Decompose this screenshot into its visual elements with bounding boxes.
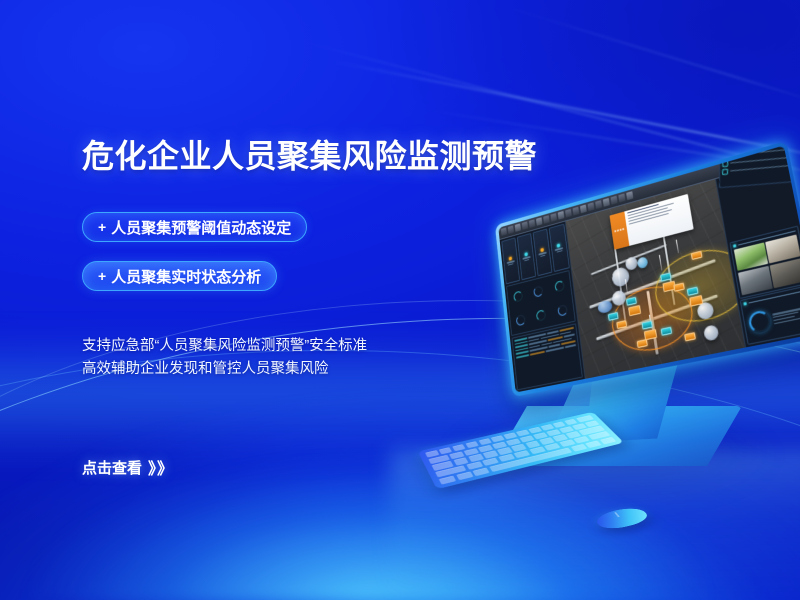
personnel-marker[interactable]: [642, 321, 653, 330]
toolbar-icon: [528, 220, 534, 229]
pipeline: [647, 291, 659, 355]
toolbar-icon: [580, 205, 587, 214]
dashboard-right-panel: [716, 159, 800, 347]
monitor: [495, 141, 800, 397]
risk-zone-amber[interactable]: [651, 241, 746, 330]
gauge-cell[interactable]: [528, 278, 550, 305]
feature-pill-label: 人员聚集预警阈值动态设定: [111, 217, 291, 238]
description: 支持应急部“人员聚集风险监测预警”安全标准 高效辅助企业发现和管控人员聚集风险: [82, 335, 502, 381]
feature-pill-threshold[interactable]: + 人员聚集预警阈值动态设定: [82, 212, 307, 242]
plus-icon: +: [98, 219, 106, 235]
description-line: 支持应急部“人员聚集风险监测预警”安全标准: [82, 335, 502, 358]
gauge-cell[interactable]: [530, 302, 552, 329]
gauge-ring-icon: [534, 285, 544, 297]
toolbar-icon: [610, 196, 617, 205]
bullet-icon: [744, 302, 748, 306]
page-title: 危化企业人员聚集风险监测预警: [82, 131, 537, 177]
gauge-cell[interactable]: [551, 297, 574, 324]
keyboard-key: [600, 437, 617, 445]
plus-icon: +: [98, 268, 106, 284]
personnel-marker[interactable]: [660, 272, 671, 281]
gauge-ring-icon: [554, 280, 564, 292]
gauge-ring-icon: [557, 304, 567, 316]
personnel-marker[interactable]: [673, 283, 685, 292]
gauge-ring-icon: [536, 309, 546, 321]
personnel-marker[interactable]: [691, 251, 703, 260]
camera-thumbnail[interactable]: [765, 234, 800, 263]
description-line: 高效辅助企业发现和管控人员聚集风险: [82, 358, 502, 381]
toolbar-icon: [543, 215, 550, 224]
personnel-marker[interactable]: [617, 320, 628, 329]
keyboard-key: [571, 444, 588, 452]
camera-feed-section[interactable]: [730, 226, 800, 299]
camera-thumbnail[interactable]: [734, 242, 768, 271]
section-header: [744, 289, 800, 306]
stat-label: [524, 259, 529, 262]
toolbar-icon: [595, 200, 602, 209]
toolbar-icon: [550, 213, 557, 222]
storage-tank: [696, 301, 714, 321]
keyboard-key: [585, 440, 602, 448]
donut-gauge-icon: [748, 309, 773, 334]
marker-pole: [659, 254, 663, 270]
toolbar-icon: [626, 191, 633, 200]
bullet-icon: [733, 244, 737, 248]
feature-pill-realtime[interactable]: + 人员聚集实时状态分析: [82, 261, 277, 291]
marker-pole: [676, 240, 679, 254]
marker-pole: [649, 314, 652, 328]
toolbar-icon: [565, 209, 572, 218]
personnel-marker[interactable]: [637, 339, 648, 348]
toolbar-icon: [557, 211, 564, 220]
toolbar-icon: [536, 218, 542, 227]
pipeline: [661, 230, 675, 306]
gauge-cell[interactable]: [548, 273, 570, 300]
stat-label: [540, 254, 546, 257]
cta-link[interactable]: 点击查看 》》: [82, 455, 174, 479]
toolbar-icon: [587, 203, 594, 212]
camera-thumbnail[interactable]: [738, 266, 772, 295]
chevron-double-right-icon: 》》: [148, 455, 174, 479]
toolbar-icon: [521, 222, 527, 231]
feature-pill-label: 人员聚集实时状态分析: [111, 266, 261, 287]
promo-text-content: 危化企业人员聚集风险监测预警 + 人员聚集预警阈值动态设定 + 人员聚集实时状态…: [0, 0, 520, 600]
storage-tank: [704, 324, 720, 341]
cta-label: 点击查看: [82, 457, 142, 478]
stat-label: [556, 250, 562, 253]
toolbar-icon: [618, 194, 625, 203]
promo-banner: 危化企业人员聚集风险监测预警 + 人员聚集预警阈值动态设定 + 人员聚集实时状态…: [0, 0, 800, 600]
personnel-marker[interactable]: [661, 327, 672, 336]
personnel-marker[interactable]: [687, 286, 699, 295]
toolbar-icon: [602, 198, 609, 207]
alert-icon: [723, 168, 729, 174]
section-header: [733, 229, 795, 247]
toolbar-icon: [572, 207, 579, 216]
gauge-readout: [773, 306, 800, 324]
personnel-marker[interactable]: [626, 297, 637, 306]
camera-thumbnail[interactable]: [770, 258, 800, 287]
personnel-marker[interactable]: [685, 332, 697, 341]
